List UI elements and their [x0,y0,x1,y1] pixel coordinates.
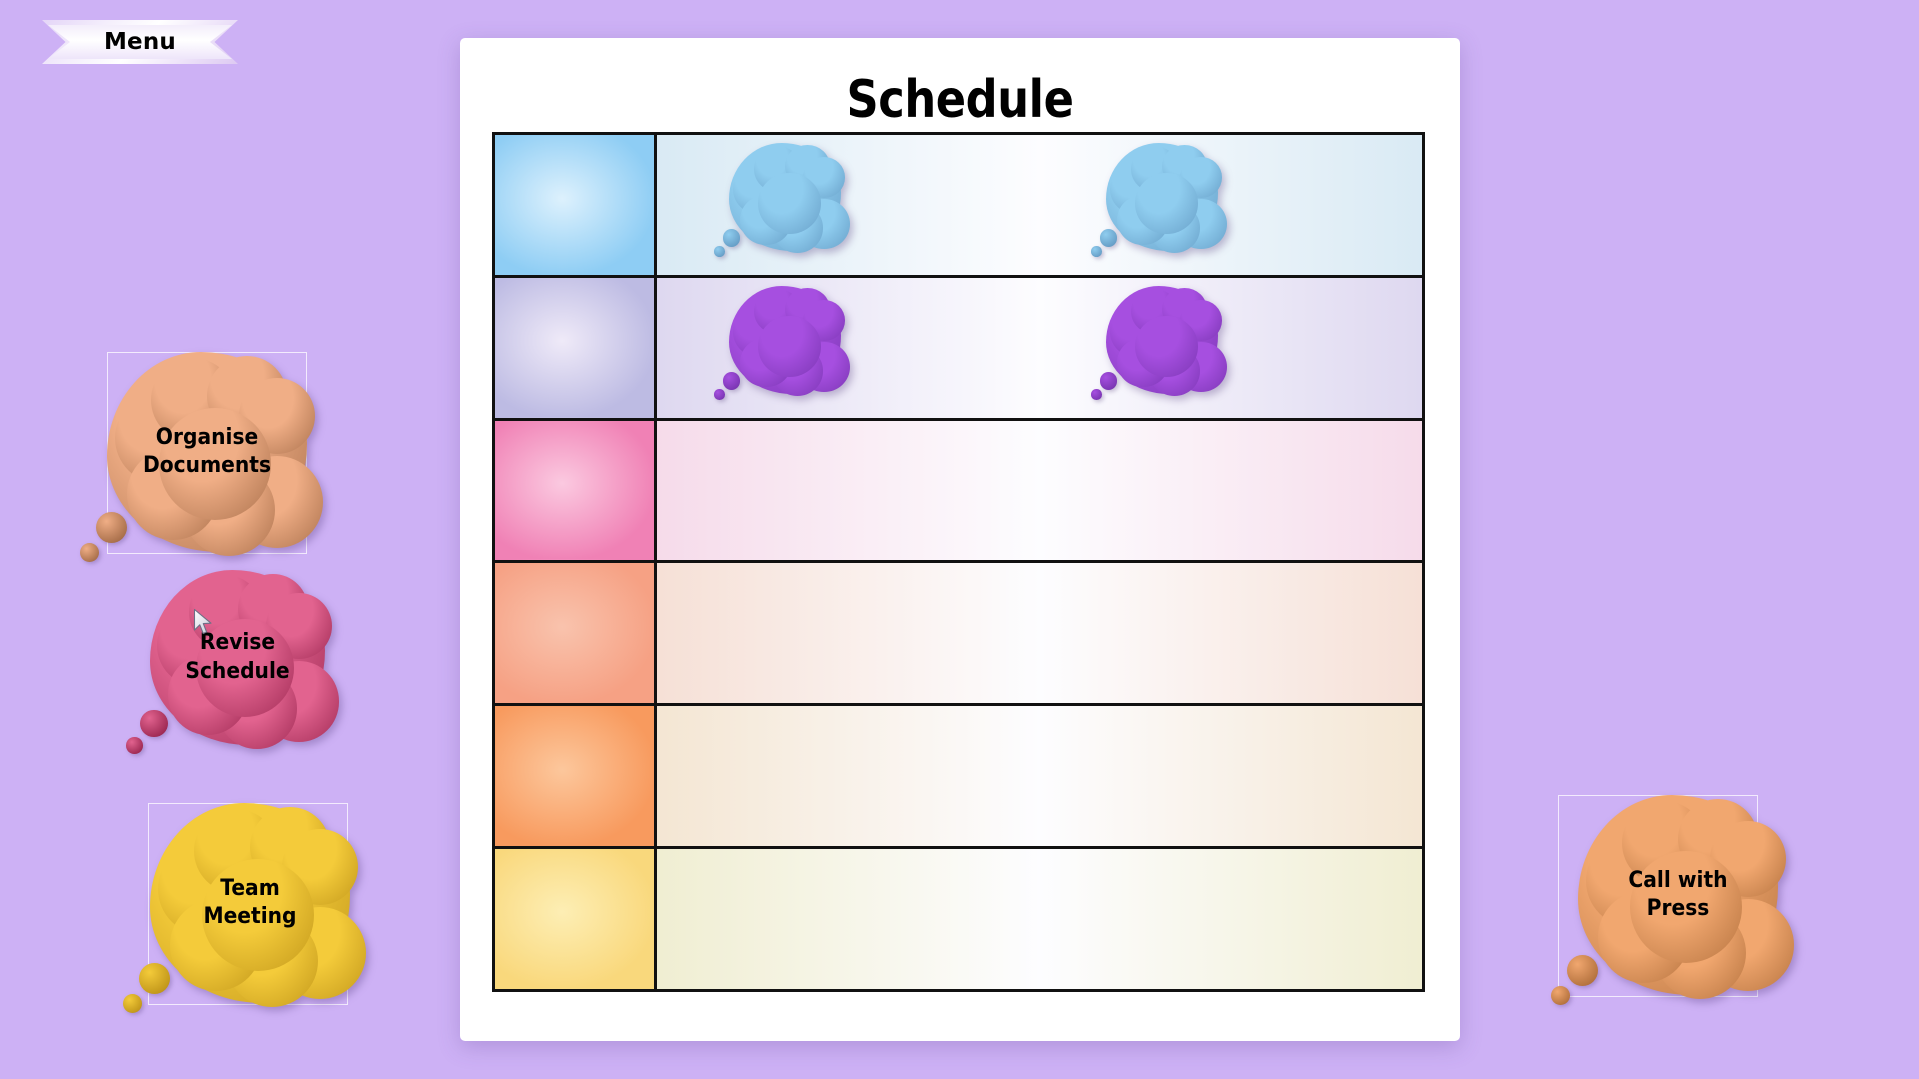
thought-bubble-body [1106,143,1218,251]
table-slot-cell-4[interactable] [656,562,1424,705]
task-bubble-organise-documents[interactable]: OrganiseDocuments [107,352,307,552]
schedule-table [492,132,1425,992]
thought-bubble-body [729,286,841,394]
thought-bubble-lump [758,316,821,376]
table-row [494,705,1424,848]
table-slot-cell-2[interactable] [656,276,1424,419]
thought-bubble-body [150,803,350,1003]
thought-bubble-lump [202,859,314,971]
thought-bubble: ReviseSchedule [150,570,325,745]
thought-bubble-dot-large [96,512,127,543]
thought-bubble-dot-large [1567,955,1598,986]
schedule-entry-bubble[interactable] [1106,143,1218,251]
table-row-header-cell-5[interactable] [494,705,656,848]
thought-bubble-body [107,352,307,552]
schedule-table-body [494,134,1424,991]
table-slot-cell-5[interactable] [656,705,1424,848]
thought-bubble: Call withPress [1578,795,1778,995]
thought-bubble-dot-large [1100,229,1117,246]
thought-bubble: TeamMeeting [150,803,350,1003]
table-row [494,562,1424,705]
thought-bubble-dot-large [1100,372,1117,389]
menu-button-label: Menu [42,20,238,64]
thought-bubble-dot-small [1551,986,1570,1005]
thought-bubble-dot-large [723,372,740,389]
thought-bubble-dot-large [723,229,740,246]
schedule-card: Schedule [460,38,1460,1041]
thought-bubble-body [150,570,325,745]
thought-bubble-dot-small [1091,246,1102,257]
thought-bubble-dot-small [714,389,725,400]
thought-bubble-lump [196,619,294,717]
table-slot-cell-1[interactable] [656,134,1424,277]
thought-bubble-body [1106,286,1218,394]
table-row [494,276,1424,419]
task-bubble-team-meeting[interactable]: TeamMeeting [150,803,350,1003]
thought-bubble-dot-small [126,737,143,754]
thought-bubble-lump [1135,316,1198,376]
table-row [494,419,1424,562]
table-row-header-cell-4[interactable] [494,562,656,705]
table-row-header-cell-2[interactable] [494,276,656,419]
thought-bubble: OrganiseDocuments [107,352,307,552]
task-bubble-revise-schedule[interactable]: ReviseSchedule [150,570,325,745]
table-row-header-cell-3[interactable] [494,419,656,562]
thought-bubble-dot-small [714,246,725,257]
table-row-header-cell-6[interactable] [494,847,656,990]
thought-bubble-dot-small [80,543,99,562]
thought-bubble [729,143,841,251]
thought-bubble-dot-small [123,994,142,1013]
thought-bubble-dot-large [139,963,170,994]
table-row [494,134,1424,277]
thought-bubble [1106,286,1218,394]
thought-bubble-lump [758,173,821,233]
menu-button[interactable]: Menu [42,20,238,64]
thought-bubble-lump [1630,851,1742,963]
thought-bubble-dot-large [140,710,167,737]
table-row-header-cell-1[interactable] [494,134,656,277]
schedule-entry-bubble[interactable] [729,286,841,394]
thought-bubble-body [729,143,841,251]
schedule-entry-bubble[interactable] [1106,286,1218,394]
thought-bubble-body [1578,795,1778,995]
thought-bubble-dot-small [1091,389,1102,400]
task-bubble-call-with-press[interactable]: Call withPress [1578,795,1778,995]
thought-bubble [729,286,841,394]
thought-bubble-lump [1135,173,1198,233]
table-row [494,847,1424,990]
table-slot-cell-6[interactable] [656,847,1424,990]
schedule-entry-bubble[interactable] [729,143,841,251]
thought-bubble-lump [159,408,271,520]
table-slot-cell-3[interactable] [656,419,1424,562]
thought-bubble [1106,143,1218,251]
page-title: Schedule [530,70,1390,130]
